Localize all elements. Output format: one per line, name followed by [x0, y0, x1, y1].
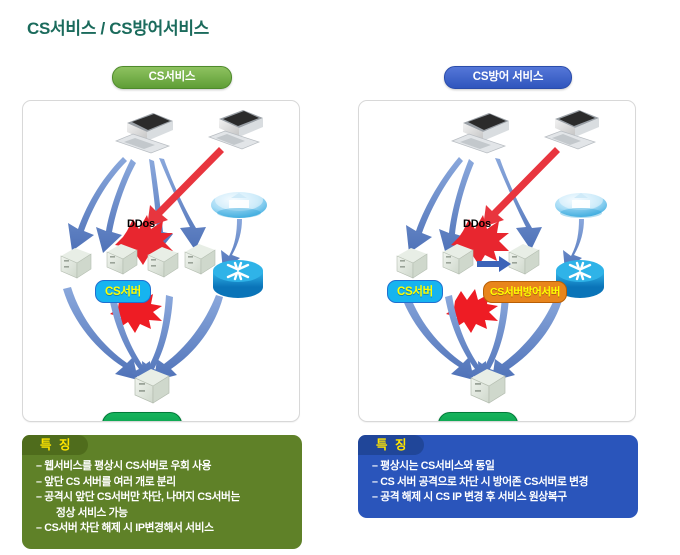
list-item: – 웹서비스를 평상시 CS서버로 우회 사용 — [36, 459, 292, 475]
list-item: – CS서버 차단 해제 시 IP변경해서 서비스 — [36, 521, 292, 537]
diagram-svg-right — [359, 101, 635, 421]
ddos-attack-label: DDos — [127, 218, 155, 230]
panel-header-cs-defense-service: CS방어 서비스 — [444, 66, 572, 89]
server-icon — [397, 244, 539, 278]
panel-header-cs-service: CS서비스 — [112, 66, 232, 89]
features-header: 특 징 — [22, 435, 88, 455]
features-list: – 평상시는 CS서비스와 동일 – CS 서버 공격으로 차단 시 방어존 C… — [372, 459, 628, 506]
diagram-cs-defense-service: DDos CS서버 CS서버방어서버 본서버 — [358, 100, 636, 422]
defense-server-label: CS서버방어서버 — [483, 281, 567, 303]
network-cloud-icon — [555, 190, 607, 218]
list-item: – 공격 해제 시 CS IP 변경 후 서비스 원상복구 — [372, 490, 628, 506]
laptop-icon — [116, 113, 173, 153]
main-server-label: 본서버 — [438, 412, 518, 422]
cs-server-label: CS서버 — [387, 280, 443, 303]
features-box-cs-service: 특 징 – 웹서비스를 평상시 CS서버로 우회 사용 – 앞단 CS 서버를 … — [22, 435, 302, 549]
panel-cs-defense-service: CS방어 서비스 — [358, 66, 658, 518]
diagram-cs-service: DDos CS서버 본서버 — [22, 100, 300, 422]
main-server-label: 본서버 — [102, 412, 182, 422]
list-item: – CS 서버 공격으로 차단 시 방어존 CS서버로 변경 — [372, 475, 628, 491]
cs-server-label: CS서버 — [95, 280, 151, 303]
laptop-icon — [209, 110, 263, 149]
page-title: CS서비스 / CS방어서비스 — [27, 14, 209, 39]
panel-cs-service: CS서비스 — [22, 66, 322, 549]
list-item: – 공격시 앞단 CS서버만 차단, 나머지 CS서버는 정상 서비스 가능 — [36, 490, 292, 521]
features-box-cs-defense-service: 특 징 – 평상시는 CS서비스와 동일 – CS 서버 공격으로 차단 시 방… — [358, 435, 638, 518]
network-cloud-icon — [211, 189, 267, 218]
diagram-svg-left — [23, 101, 299, 421]
list-item: – 평상시는 CS서비스와 동일 — [372, 459, 628, 475]
features-list: – 웹서비스를 평상시 CS서버로 우회 사용 – 앞단 CS 서버를 여러 개… — [36, 459, 292, 537]
laptop-icon — [545, 110, 599, 149]
router-icon — [213, 260, 263, 298]
laptop-icon — [452, 113, 509, 153]
list-item: – 앞단 CS 서버를 여러 개로 분리 — [36, 475, 292, 491]
features-header: 특 징 — [358, 435, 424, 455]
ddos-attack-label: DDos — [463, 218, 491, 230]
